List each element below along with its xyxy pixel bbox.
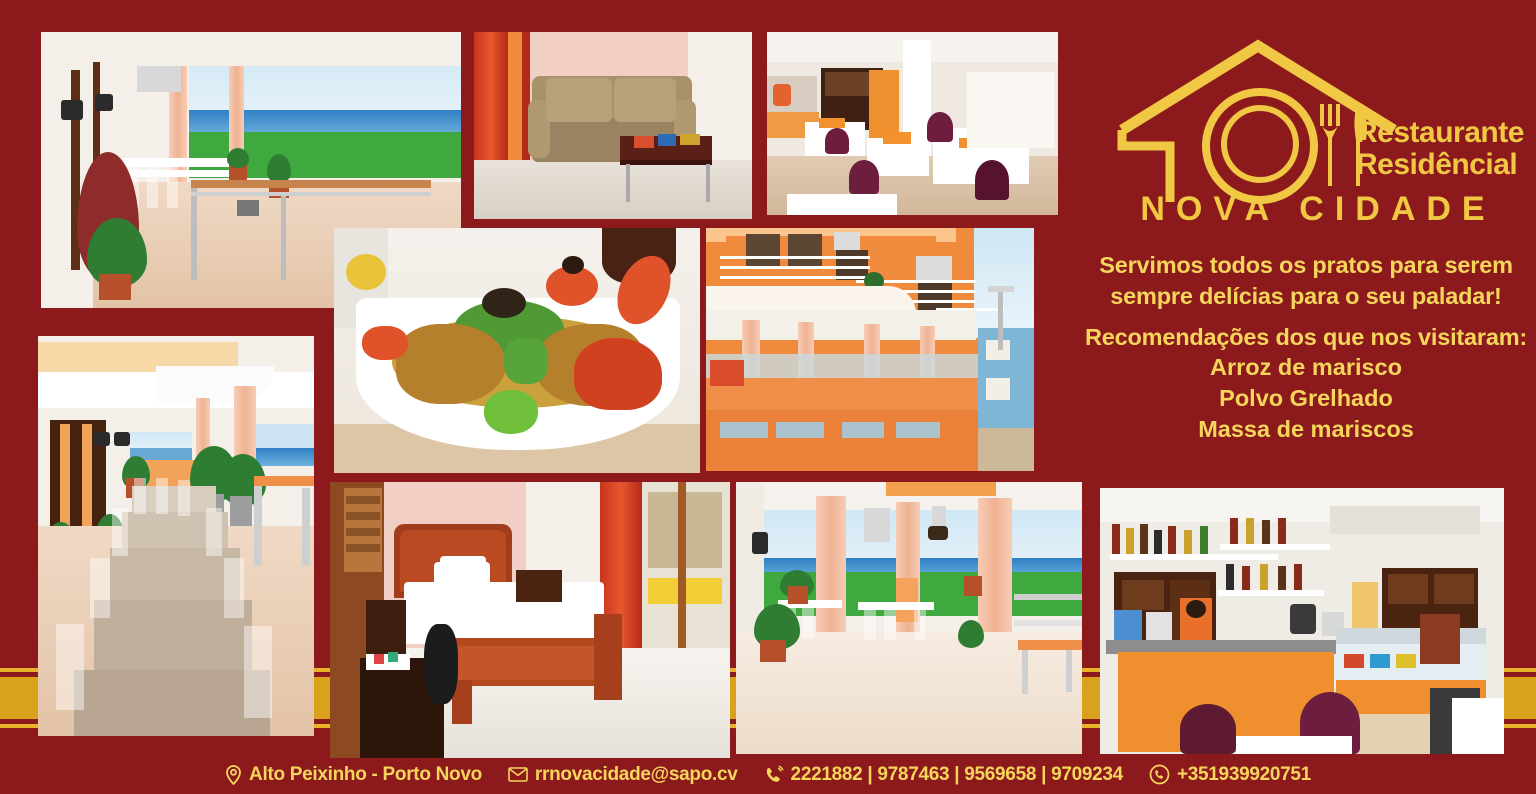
flyer-canvas: Restaurante Residêncial NOVA CIDADE Serv… bbox=[0, 0, 1536, 794]
photo-restaurant-dining-hall bbox=[767, 32, 1058, 215]
tagline-line-2: sempre delícias para o seu paladar! bbox=[1078, 281, 1534, 312]
tagline: Servimos todos os pratos para serem semp… bbox=[1078, 250, 1534, 312]
dish-item: Arroz de marisco bbox=[1078, 352, 1534, 383]
recommendations-heading: Recomendações dos que nos visitaram: bbox=[1078, 322, 1534, 353]
svg-text:NOVA CIDADE: NOVA CIDADE bbox=[1140, 190, 1495, 224]
photo-lobster-seafood-dish bbox=[334, 228, 700, 473]
footer-email-text: rrnovacidade@sapo.cv bbox=[535, 764, 738, 786]
footer-address-text: Alto Peixinho - Porto Novo bbox=[249, 764, 482, 786]
dish-item: Massa de mariscos bbox=[1078, 414, 1534, 445]
envelope-icon bbox=[508, 767, 528, 782]
photo-guest-bedroom-double-bed bbox=[330, 482, 730, 758]
tagline-line-1: Servimos todos os pratos para serem bbox=[1078, 250, 1534, 281]
dish-item: Polvo Grelhado bbox=[1078, 383, 1534, 414]
photo-hotel-building-exterior bbox=[706, 228, 1034, 471]
footer-contact-bar: Alto Peixinho - Porto Novo rrnovacidade@… bbox=[0, 755, 1536, 794]
svg-text:Residêncial: Residêncial bbox=[1356, 148, 1517, 181]
footer-phones-text: 2221882 | 9787463 | 9569658 | 9709234 bbox=[791, 764, 1123, 786]
photo-bar-counter-reception bbox=[1100, 488, 1504, 754]
footer-email: rrnovacidade@sapo.cv bbox=[508, 764, 738, 786]
svg-text:Restaurante: Restaurante bbox=[1356, 116, 1524, 149]
whatsapp-icon bbox=[1149, 764, 1170, 785]
phone-icon bbox=[764, 765, 784, 785]
footer-whatsapp: +351939920751 bbox=[1149, 764, 1311, 786]
footer-phones: 2221882 | 9787463 | 9569658 | 9709234 bbox=[764, 764, 1123, 786]
location-pin-icon bbox=[225, 765, 242, 785]
photo-lounge-sofa-room bbox=[474, 32, 752, 219]
recommended-dishes-list: Arroz de marisco Polvo Grelhado Massa de… bbox=[1078, 352, 1534, 445]
photo-covered-terrace-sea-view bbox=[736, 482, 1082, 754]
photo-corridor-dining-tables bbox=[38, 336, 314, 736]
brand-logo: Restaurante Residêncial NOVA CIDADE bbox=[1108, 34, 1528, 224]
footer-address: Alto Peixinho - Porto Novo bbox=[225, 764, 482, 786]
footer-whatsapp-text: +351939920751 bbox=[1177, 764, 1311, 786]
